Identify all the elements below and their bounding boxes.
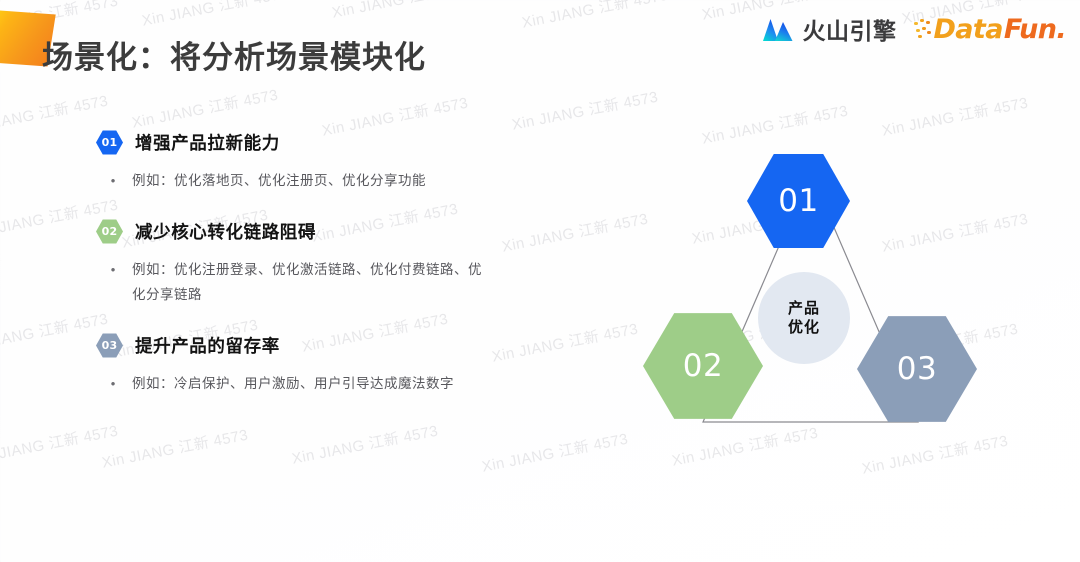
hexagon-badge-01-label: 01 — [102, 136, 118, 149]
bullet-text: 例如：优化落地页、优化注册页、优化分享功能 — [132, 168, 426, 193]
slide-canvas: Xin JIANG 江新 4573Xin JIANG 江新 4573Xin JI… — [0, 0, 1080, 562]
scenario-item-01: 01增强产品拉新能力•例如：优化落地页、优化注册页、优化分享功能 — [96, 130, 526, 193]
bullet-dot-icon: • — [108, 257, 118, 307]
scenario-item-03-bullets: •例如：冷启保护、用户激励、用户引导达成魔法数字 — [96, 371, 526, 396]
bullet-row: •例如：冷启保护、用户激励、用户引导达成魔法数字 — [108, 371, 526, 396]
hexagon-node-02[interactable]: 02 — [643, 312, 763, 420]
datafun-word-fun: Fun. — [1004, 14, 1066, 45]
scenario-item-01-title: 增强产品拉新能力 — [135, 130, 280, 155]
bullet-text: 例如：优化注册登录、优化激活链路、优化付费链路、优化分享链路 — [132, 257, 482, 307]
mountain-icon — [762, 16, 794, 42]
hexagon-badge-03-label: 03 — [102, 339, 118, 352]
hexagon-node-01[interactable]: 01 — [747, 153, 850, 249]
datafun-dots-icon — [914, 18, 932, 40]
product-optimization-diagram: 01 02 03 产品 优化 — [620, 140, 1040, 460]
bullet-dot-icon: • — [108, 168, 118, 193]
diagram-center-circle: 产品 优化 — [758, 272, 850, 364]
logo-bar: 火山引擎 Data Fun. — [762, 12, 1066, 46]
hexagon-node-03-label: 03 — [897, 351, 937, 387]
scenario-item-02: 02减少核心转化链路阻碍•例如：优化注册登录、优化激活链路、优化付费链路、优化分… — [96, 219, 526, 307]
scenario-item-03-header: 03提升产品的留存率 — [96, 333, 526, 358]
hexagon-node-03[interactable]: 03 — [857, 315, 977, 423]
bullet-dot-icon: • — [108, 371, 118, 396]
bullet-row: •例如：优化落地页、优化注册页、优化分享功能 — [108, 168, 526, 193]
volcano-engine-wordmark: 火山引擎 — [802, 12, 896, 46]
scenario-list: 01增强产品拉新能力•例如：优化落地页、优化注册页、优化分享功能02减少核心转化… — [96, 130, 526, 422]
hexagon-badge-03: 03 — [96, 333, 123, 358]
datafun-word-data: Data — [933, 14, 1002, 45]
hexagon-badge-01: 01 — [96, 130, 123, 155]
scenario-item-02-header: 02减少核心转化链路阻碍 — [96, 219, 526, 244]
scenario-item-01-header: 01增强产品拉新能力 — [96, 130, 526, 155]
diagram-center-line-2: 优化 — [788, 318, 820, 337]
datafun-logo: Data Fun. — [914, 14, 1066, 45]
hexagon-node-02-label: 02 — [683, 348, 723, 384]
hexagon-node-01-label: 01 — [778, 183, 818, 219]
volcano-engine-logo: 火山引擎 — [762, 12, 896, 46]
scenario-item-02-title: 减少核心转化链路阻碍 — [135, 219, 316, 244]
bullet-text: 例如：冷启保护、用户激励、用户引导达成魔法数字 — [132, 371, 454, 396]
scenario-item-03-title: 提升产品的留存率 — [135, 333, 280, 358]
scenario-item-02-bullets: •例如：优化注册登录、优化激活链路、优化付费链路、优化分享链路 — [96, 257, 526, 307]
page-title: 场景化：将分析场景模块化 — [42, 32, 426, 77]
hexagon-badge-02-label: 02 — [102, 225, 118, 238]
hexagon-badge-02: 02 — [96, 219, 123, 244]
scenario-item-03: 03提升产品的留存率•例如：冷启保护、用户激励、用户引导达成魔法数字 — [96, 333, 526, 396]
scenario-item-01-bullets: •例如：优化落地页、优化注册页、优化分享功能 — [96, 168, 526, 193]
bullet-row: •例如：优化注册登录、优化激活链路、优化付费链路、优化分享链路 — [108, 257, 526, 307]
diagram-center-line-1: 产品 — [788, 299, 820, 318]
